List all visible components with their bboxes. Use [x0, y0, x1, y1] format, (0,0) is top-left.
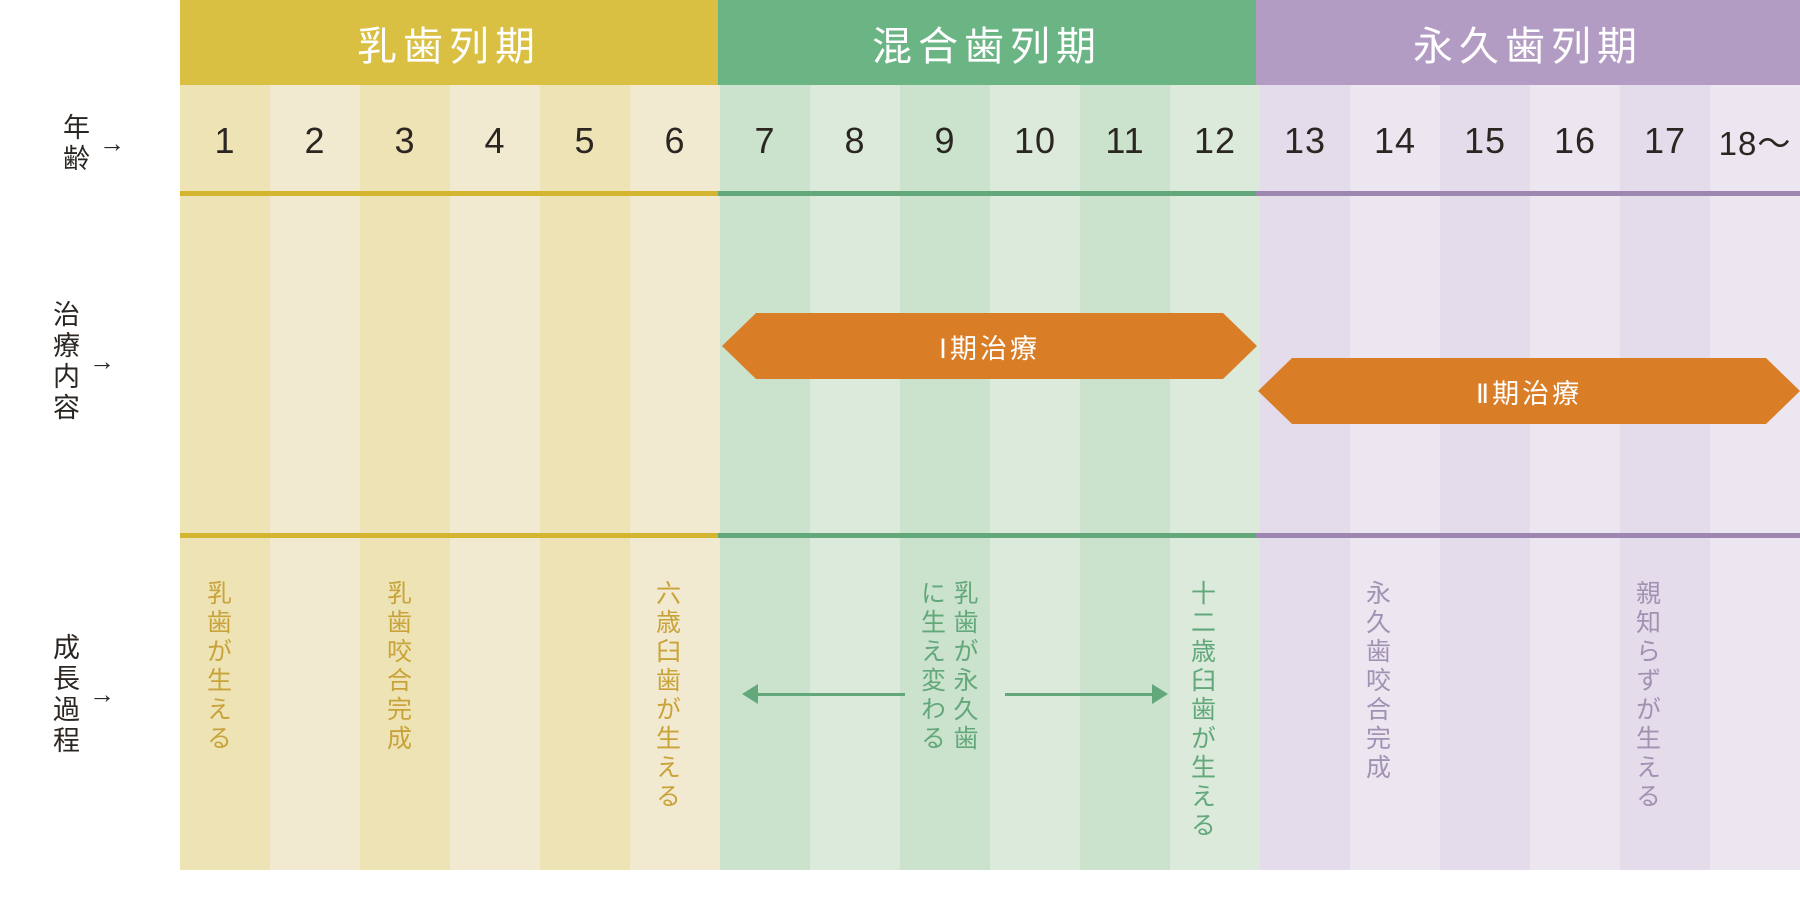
- age-column-15: [1440, 85, 1530, 870]
- age-column-8: [810, 85, 900, 870]
- age-label-1: 1: [180, 85, 270, 196]
- divider-treatment-mixed: [718, 533, 1256, 538]
- arrow-right-icon: →: [89, 681, 115, 707]
- phase-header-primary-label: 乳歯列期: [357, 14, 541, 72]
- side-label-treatment: 治療内容 →: [48, 252, 115, 472]
- divider-age-primary: [180, 191, 718, 196]
- age-column-18: [1710, 85, 1800, 870]
- age-label-6: 6: [630, 85, 720, 196]
- age-label-3: 3: [360, 85, 450, 196]
- age-label-9: 9: [900, 85, 990, 196]
- growth-item-age3: 乳歯咬合完成: [381, 580, 414, 754]
- phase-header-permanent: 永久歯列期: [1256, 0, 1800, 85]
- divider-age-permanent: [1256, 191, 1800, 196]
- arrow-right-icon: [1152, 684, 1168, 704]
- age-column-5: [540, 85, 630, 870]
- growth-item-age12: 十二歳臼歯が生える: [1185, 580, 1218, 841]
- age-column-10: [990, 85, 1080, 870]
- divider-age-mixed: [718, 191, 1256, 196]
- age-label-12: 12: [1170, 85, 1260, 196]
- treatment-banner-phase1-label: Ⅰ期治療: [939, 327, 1040, 366]
- growth-item-age17: 親知らずが生える: [1630, 580, 1663, 812]
- growth-item-age6: 六歳臼歯が生える: [650, 580, 683, 812]
- phase-header-primary: 乳歯列期: [180, 0, 718, 85]
- age-label-2: 2: [270, 85, 360, 196]
- age-label-8: 8: [810, 85, 900, 196]
- age-label-11: 11: [1080, 85, 1170, 196]
- side-label-growth-text: 成長過程: [48, 633, 79, 757]
- age-column-11: [1080, 85, 1170, 870]
- age-label-16: 16: [1530, 85, 1620, 196]
- dental-growth-treatment-chart: 乳歯列期 混合歯列期 永久歯列期 12345678910111213141516…: [0, 0, 1800, 900]
- age-label-5: 5: [540, 85, 630, 196]
- age-label-15: 15: [1440, 85, 1530, 196]
- treatment-banner-phase2-label: Ⅱ期治療: [1476, 372, 1582, 411]
- arrow-shaft: [1005, 693, 1152, 696]
- age-label-14: 14: [1350, 85, 1440, 196]
- growth-item-age14: 永久歯咬合完成: [1360, 580, 1393, 783]
- age-label-17: 17: [1620, 85, 1710, 196]
- phase-header-mixed-label: 混合歯列期: [872, 14, 1102, 72]
- age-column-13: [1260, 85, 1350, 870]
- side-label-age-text: 年齢: [58, 113, 89, 175]
- divider-treatment-primary: [180, 533, 718, 538]
- age-label-10: 10: [990, 85, 1080, 196]
- age-column-4: [450, 85, 540, 870]
- age-label-4: 4: [450, 85, 540, 196]
- age-label-18: 18〜: [1710, 85, 1800, 196]
- growth-arrow-right: [1005, 684, 1168, 704]
- phase-header-permanent-label: 永久歯列期: [1413, 14, 1643, 72]
- treatment-banner-phase2[interactable]: Ⅱ期治療: [1258, 358, 1800, 424]
- age-column-7: [720, 85, 810, 870]
- side-label-growth: 成長過程 →: [48, 610, 115, 780]
- age-column-16: [1530, 85, 1620, 870]
- age-label-7: 7: [720, 85, 810, 196]
- growth-item-age1: 乳歯が生える: [201, 580, 234, 754]
- arrow-right-icon: →: [89, 348, 115, 374]
- phase-header-mixed: 混合歯列期: [718, 0, 1256, 85]
- side-label-age: 年齢 →: [58, 92, 125, 196]
- growth-arrow-left: [742, 684, 905, 704]
- treatment-banner-phase1[interactable]: Ⅰ期治療: [722, 313, 1257, 379]
- arrow-left-icon: [742, 684, 758, 704]
- growth-item-age9: 乳歯が永久歯に生え変わる: [915, 580, 980, 780]
- age-label-13: 13: [1260, 85, 1350, 196]
- arrow-shaft: [758, 693, 905, 696]
- side-label-treatment-text: 治療内容: [48, 300, 79, 424]
- divider-treatment-permanent: [1256, 533, 1800, 538]
- arrow-right-icon: →: [99, 130, 125, 156]
- age-column-2: [270, 85, 360, 870]
